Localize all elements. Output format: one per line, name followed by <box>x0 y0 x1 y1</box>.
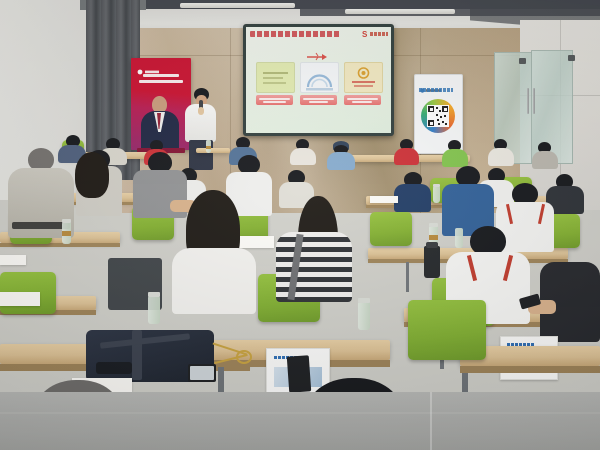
bottle-cap-r2-2 <box>358 298 370 303</box>
bottle-r2-1 <box>148 296 160 324</box>
standee-subtitle <box>419 88 453 92</box>
desk-leg-r3-1 <box>406 262 409 292</box>
chair-r3-4[interactable] <box>370 212 412 246</box>
slide-arrow-icon <box>305 48 331 57</box>
slide-title-text <box>250 31 340 37</box>
desk-row1-right-edge <box>460 366 600 373</box>
slide-caption-2 <box>300 95 337 105</box>
thermos-flask <box>424 246 440 278</box>
door-hinge-left <box>519 58 526 64</box>
bottle-label-r3-2 <box>429 235 438 240</box>
slide-brand-logo: S <box>362 31 388 38</box>
audience-torso-r4-3 <box>394 184 431 212</box>
presenter-hands <box>198 107 204 115</box>
ceiling-light-strip-1 <box>180 3 295 8</box>
bottle-cap-r2-1 <box>148 292 160 297</box>
audience-torso-r5-7 <box>394 148 419 165</box>
paper-r4-1 <box>370 196 398 203</box>
side-table <box>196 148 230 153</box>
audience-torso-r5-8 <box>442 149 468 167</box>
bottle-label-r3-1 <box>62 231 71 236</box>
thermos-cap <box>426 242 438 248</box>
floor-tile-line-1 <box>430 392 432 450</box>
paper-r3-3 <box>0 255 26 265</box>
slide-card-green <box>256 62 295 93</box>
ceiling-light-strip-2 <box>345 9 455 14</box>
audience-torso-woman-center <box>172 248 256 314</box>
slide-card-white-arch <box>300 62 339 93</box>
qr-code-icon[interactable] <box>427 105 449 127</box>
floor-surface <box>0 392 600 450</box>
bottle-cap-r4-1 <box>433 184 440 187</box>
bottle-r3-3 <box>455 228 463 248</box>
smartphone-on-brochure[interactable] <box>287 355 311 392</box>
chair-r1-1[interactable] <box>408 300 486 360</box>
bottle-r4-1 <box>433 186 440 203</box>
slide-card-yellow-emblem <box>344 62 383 93</box>
bottle-cap-r3-2 <box>429 223 438 227</box>
audience-torso-r5-9 <box>488 148 514 166</box>
slide-caption-3 <box>344 95 381 105</box>
slide-caption-1 <box>256 95 293 105</box>
floor-tile-line-2 <box>0 412 600 414</box>
smartphone-screen <box>190 366 214 380</box>
presenter-bottle-label <box>206 146 211 149</box>
banner-headline-line1 <box>143 74 179 77</box>
audience-torso-r5-6 <box>327 152 355 170</box>
bag-pocket <box>96 362 132 374</box>
bottle-cap-r3-1 <box>62 219 71 223</box>
audience-hair-r3-3 <box>75 152 109 198</box>
eyeglasses-lens <box>236 350 252 364</box>
standee-logo <box>420 80 442 85</box>
audience-torso-r5-10 <box>532 151 558 169</box>
door-handle-right[interactable] <box>533 88 535 114</box>
door-hinge-right <box>568 55 575 61</box>
banner-headline-line2 <box>139 80 183 83</box>
banner-brand-logo <box>137 62 161 68</box>
paper-r2-1 <box>0 292 40 306</box>
bottle-r2-2 <box>358 302 370 330</box>
door-handle-left[interactable] <box>527 88 529 114</box>
audience-torso-r5-5 <box>290 148 316 165</box>
seminar-room-photo: S <box>0 0 600 450</box>
